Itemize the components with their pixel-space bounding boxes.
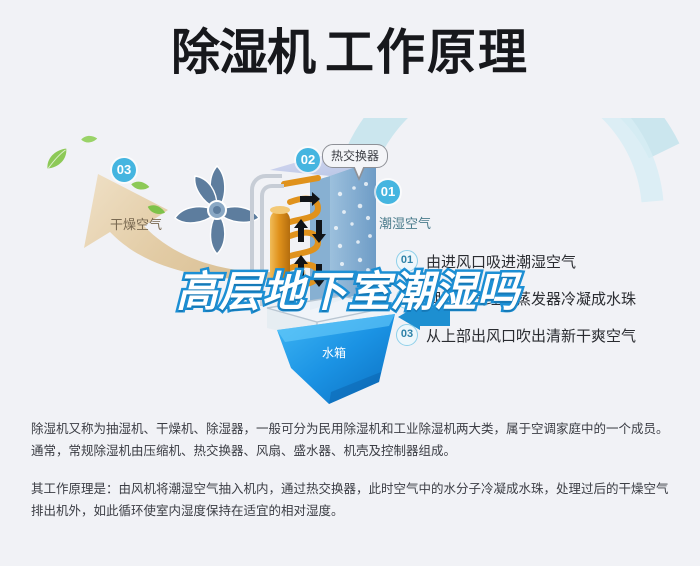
step-badge: 03 (396, 324, 418, 346)
heat-exchanger-callout: 热交换器 (322, 144, 388, 168)
step-text: 从上部出风口吹出清新干爽空气 (426, 325, 636, 346)
overlay-headline: 高层地下室潮湿吗 (176, 258, 520, 319)
page-title-part2: 工作原理 (325, 24, 529, 81)
paragraph-2: 其工作原理是：由风机将潮湿空气抽入机内，通过热交换器，此时空气中的水分子冷凝成水… (31, 478, 671, 522)
badge-humid-air: 01 (376, 180, 400, 204)
label-dry-air: 干燥空气 (110, 214, 162, 233)
infographic-page: 除湿机工作原理 (0, 0, 700, 566)
page-title-text: 除湿机工作原理 (171, 28, 529, 77)
label-humid-air: 潮湿空气 (379, 213, 431, 232)
label-water-tank: 水箱 (322, 344, 346, 361)
page-title: 除湿机工作原理 (0, 28, 700, 77)
badge-heat-exchanger: 02 (296, 148, 320, 172)
body-copy: 除湿机又称为抽湿机、干燥机、除湿器，一般可分为民用除湿机和工业除湿机两大类，属于… (31, 418, 671, 522)
page-title-part1: 除湿机 (171, 24, 315, 81)
list-item: 03 从上部出风口吹出清新干爽空气 (396, 319, 696, 351)
paragraph-1: 除湿机又称为抽湿机、干燥机、除湿器，一般可分为民用除湿机和工业除湿机两大类，属于… (31, 418, 671, 462)
badge-dry-air: 03 (112, 158, 136, 182)
leaf-icon (80, 131, 97, 147)
